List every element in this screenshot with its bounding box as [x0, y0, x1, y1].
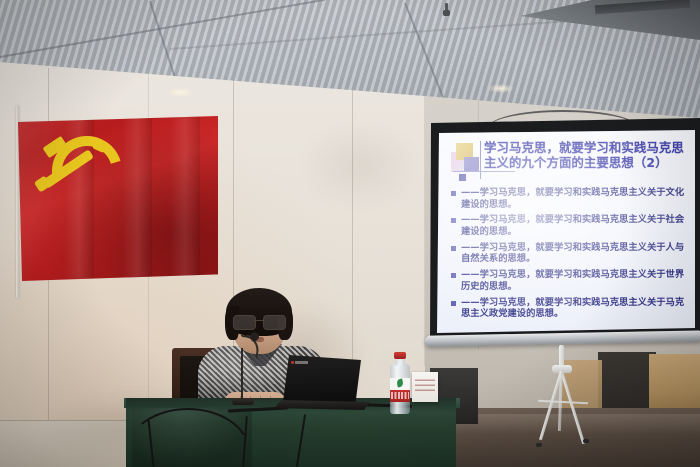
bottle-label-text — [391, 392, 409, 399]
bullet-square-icon — [451, 191, 456, 196]
slide-bullet-item: ——学习马克思，就要学习和实践马克思主义关于马克思主义政党建设的思想。 — [447, 297, 691, 320]
slide-bullet-list: ——学习马克思，就要学习和实践马克思主义关于文化建设的思想。 ——学习马克思，就… — [447, 187, 691, 324]
projection-screen: 学习马克思，就要学习和实践马克思主义的九个方面的主要思想（2） ——学习马克思，… — [437, 130, 695, 333]
ceiling-light — [168, 88, 194, 97]
bullet-square-icon — [451, 273, 456, 278]
cpc-flag — [18, 116, 218, 281]
glasses-icon — [232, 315, 286, 328]
slide-bullet-text: ——学习马克思，就要学习和实践马克思主义关于社会建设的思想。 — [461, 214, 691, 237]
doorway-recess — [598, 352, 656, 414]
slide-title: 学习马克思，就要学习和实践马克思主义的九个方面的主要思想（2） — [484, 141, 689, 170]
slide-decor-horizontal-line — [453, 171, 515, 172]
wall-shadow — [300, 120, 420, 210]
slide-bullet-text: ——学习马克思，就要学习和实践马克思主义关于马克思主义政党建设的思想。 — [461, 297, 691, 320]
bullet-square-icon — [451, 246, 456, 251]
sprinkler-head — [443, 3, 450, 18]
slide-bullet-item: ——学习马克思，就要学习和实践马克思主义关于文化建设的思想。 — [447, 187, 691, 210]
slide-bullet-text: ——学习马克思，就要学习和实践马克思主义关于人与自然关系的思想。 — [461, 242, 691, 265]
microphone-head — [250, 332, 259, 341]
wooden-cabinet — [649, 354, 700, 416]
slide-bullet-item: ——学习马克思，就要学习和实践马克思主义关于人与自然关系的思想。 — [447, 242, 691, 265]
presentation-slide: 学习马克思，就要学习和实践马克思主义的九个方面的主要思想（2） ——学习马克思，… — [437, 130, 695, 333]
lecture-hall-photo: 学习马克思，就要学习和实践马克思主义的九个方面的主要思想（2） ——学习马克思，… — [0, 0, 700, 467]
laptop-logo — [295, 361, 308, 364]
ceiling-light — [488, 84, 514, 93]
flag-fold — [122, 116, 152, 281]
bullet-square-icon — [451, 218, 456, 223]
slide-bullet-item: ——学习马克思，就要学习和实践马克思主义关于社会建设的思想。 — [447, 214, 691, 237]
slide-bullet-item: ——学习马克思，就要学习和实践马克思主义关于世界历史的思想。 — [447, 269, 691, 292]
water-bottle — [389, 352, 411, 414]
slide-decor-small-square — [459, 174, 466, 181]
wall-seam — [424, 84, 425, 366]
slide-decor-vertical-line — [480, 141, 481, 179]
slide-bullet-text: ——学习马克思，就要学习和实践马克思主义关于文化建设的思想。 — [461, 187, 691, 210]
microphone-base — [232, 398, 254, 405]
bottle-neck — [395, 358, 405, 366]
screen-tripod — [528, 345, 598, 445]
name-card-text — [415, 379, 435, 391]
slide-bullet-text: ——学习马克思，就要学习和实践马克思主义关于世界历史的思想。 — [461, 269, 691, 292]
projection-screen-assembly: 学习马克思，就要学习和实践马克思主义的九个方面的主要思想（2） ——学习马克思，… — [428, 118, 700, 348]
bullet-square-icon — [451, 301, 456, 306]
bottle-cap — [394, 352, 406, 359]
hammer-and-sickle-icon — [38, 134, 114, 200]
slide-decor-purple-square — [464, 157, 479, 172]
laptop-logo-dot-icon — [291, 361, 294, 364]
flag-fold — [170, 116, 200, 281]
